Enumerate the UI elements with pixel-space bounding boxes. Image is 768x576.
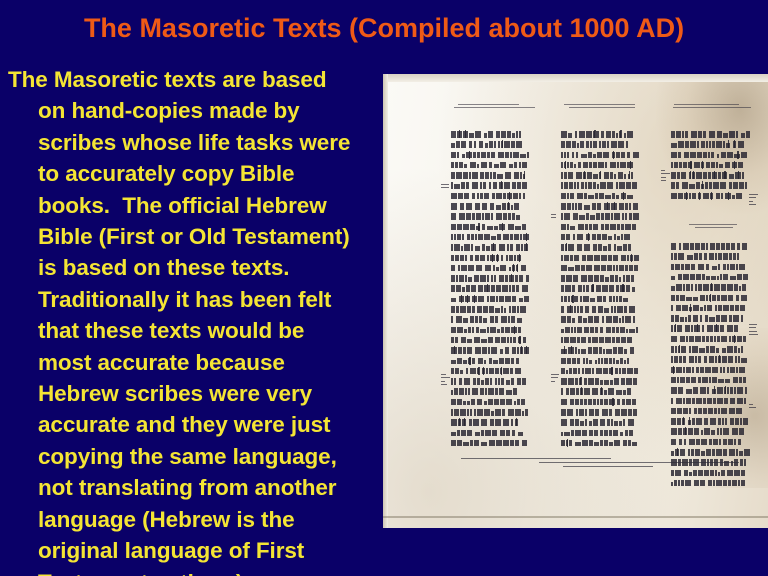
body-line: Testament authors). — [8, 567, 380, 576]
manuscript-text-line — [671, 335, 757, 345]
manuscript-text-line — [451, 243, 537, 253]
manuscript-text-line — [561, 295, 647, 305]
marginal-masorah-note — [749, 194, 758, 208]
manuscript-text-line — [451, 367, 537, 377]
masorah-header-right — [671, 104, 757, 118]
manuscript-text-line — [451, 408, 537, 418]
body-line: Hebrew scribes were very — [8, 378, 380, 409]
manuscript-text-line — [671, 263, 757, 273]
masorah-header-left — [451, 104, 537, 118]
marginal-masorah-note — [749, 324, 758, 338]
manuscript-text-line — [671, 386, 757, 396]
manuscript-text-line — [561, 346, 647, 356]
body-line: scribes whose life tasks were — [8, 127, 380, 158]
manuscript-text-line — [561, 305, 647, 315]
manuscript-text-line — [561, 418, 647, 428]
manuscript-text-line — [451, 418, 537, 428]
manuscript-text-line — [561, 151, 647, 161]
manuscript-text-line — [561, 233, 647, 243]
body-line: language (Hebrew is the — [8, 504, 380, 535]
body-line: is based on these texts. — [8, 252, 380, 283]
manuscript-text-line — [451, 387, 537, 397]
page-edge — [383, 74, 388, 528]
manuscript-text-line — [451, 315, 537, 325]
marginal-masorah-note — [551, 374, 560, 384]
page-edge — [383, 516, 768, 518]
manuscript-text-line — [561, 192, 647, 202]
body-line: to accurately copy Bible — [8, 158, 380, 189]
masorah-note-line — [461, 458, 611, 459]
masorah-note-line — [563, 466, 653, 467]
manuscript-text-line — [451, 254, 537, 264]
manuscript-column-left — [451, 130, 537, 449]
manuscript-text-line — [561, 284, 647, 294]
page-edge — [383, 74, 768, 82]
manuscript-text-line — [451, 377, 537, 387]
manuscript-text-line — [671, 130, 757, 140]
manuscript-text-line — [451, 212, 537, 222]
manuscript-text-line — [451, 274, 537, 284]
manuscript-text-line — [451, 439, 537, 449]
masorah-footer — [443, 458, 743, 469]
slide-canvas: The Masoretic Texts (Compiled about 1000… — [0, 0, 768, 576]
manuscript-text-line — [451, 192, 537, 202]
manuscript-text-line — [561, 315, 647, 325]
manuscript-text-line — [561, 212, 647, 222]
marginal-masorah-note — [441, 374, 450, 388]
slide-title: The Masoretic Texts (Compiled about 1000… — [0, 12, 768, 44]
manuscript-text-line — [561, 130, 647, 140]
manuscript-text-line — [451, 326, 537, 336]
manuscript-text-line — [671, 448, 757, 458]
manuscript-text-line — [561, 161, 647, 171]
manuscript-text-line — [671, 273, 757, 283]
manuscript-paragraph-gap — [671, 202, 757, 224]
manuscript-text-line — [451, 171, 537, 181]
manuscript-text-line — [671, 140, 757, 150]
manuscript-text-line — [561, 223, 647, 233]
marginal-masorah-note — [661, 170, 670, 184]
masorah-note-line — [539, 462, 739, 463]
manuscript-text-line — [451, 305, 537, 315]
masorah-note-line — [564, 104, 635, 105]
body-line: copying the same language, — [8, 441, 380, 472]
manuscript-text-line — [671, 294, 757, 304]
manuscript-column-right — [671, 130, 757, 489]
manuscript-text-line — [561, 429, 647, 439]
body-line: that these texts would be — [8, 315, 380, 346]
manuscript-text-line — [561, 357, 647, 367]
manuscript-text-line — [561, 274, 647, 284]
manuscript-column-middle — [561, 130, 647, 449]
body-line: books. The official Hebrew — [8, 190, 380, 221]
manuscript-text-line — [451, 202, 537, 212]
manuscript-text-line — [561, 243, 647, 253]
manuscript-text-line — [671, 479, 757, 489]
marginal-masorah-note — [441, 184, 450, 191]
manuscript-text-line — [671, 151, 757, 161]
marginal-masorah-note — [749, 404, 758, 411]
masorah-header-middle — [561, 104, 647, 118]
slide-body-text: The Masoretic texts are based on hand-co… — [8, 64, 380, 576]
masorah-note-line — [673, 107, 751, 108]
manuscript-text-line — [561, 377, 647, 387]
masorah-note-line — [458, 104, 519, 105]
manuscript-text-line — [671, 417, 757, 427]
manuscript-text-line — [671, 242, 757, 252]
manuscript-text-line — [561, 202, 647, 212]
manuscript-text-line — [671, 407, 757, 417]
manuscript-text-line — [671, 314, 757, 324]
manuscript-text-line — [561, 254, 647, 264]
manuscript-text-line — [561, 140, 647, 150]
manuscript-text-line — [451, 181, 537, 191]
manuscript-text-line — [671, 304, 757, 314]
manuscript-text-line — [561, 336, 647, 346]
manuscript-text-line — [671, 376, 757, 386]
manuscript-text-line — [451, 346, 537, 356]
manuscript-text-line — [671, 397, 757, 407]
manuscript-text-line — [561, 408, 647, 418]
manuscript-text-line — [451, 336, 537, 346]
manuscript-text-line — [451, 357, 537, 367]
manuscript-text-line — [451, 295, 537, 305]
manuscript-text-line — [451, 151, 537, 161]
manuscript-text-line — [671, 355, 757, 365]
manuscript-text-line — [451, 161, 537, 171]
body-line: not translating from another — [8, 472, 380, 503]
masorah-note-line — [674, 104, 739, 105]
manuscript-text-line — [671, 324, 757, 334]
manuscript-text-line — [671, 366, 757, 376]
masorah-note-line — [569, 107, 635, 108]
manuscript-text-line — [561, 181, 647, 191]
manuscript-text-line — [561, 367, 647, 377]
manuscript-text-line — [451, 130, 537, 140]
manuscript-text-line — [561, 398, 647, 408]
body-line: most accurate because — [8, 347, 380, 378]
masorah-inline-note — [689, 224, 737, 225]
manuscript-text-line — [671, 345, 757, 355]
manuscript-text-line — [451, 284, 537, 294]
manuscript-text-line — [561, 326, 647, 336]
body-line: The Masoretic texts are based — [8, 64, 380, 95]
manuscript-text-line — [451, 223, 537, 233]
manuscript-text-line — [671, 181, 757, 191]
manuscript-text-line — [451, 233, 537, 243]
manuscript-photo — [383, 74, 768, 528]
manuscript-text-line — [451, 398, 537, 408]
manuscript-text-line — [671, 171, 757, 181]
manuscript-text-line — [671, 469, 757, 479]
manuscript-paragraph-gap — [671, 230, 757, 242]
body-line: on hand-copies made by — [8, 95, 380, 126]
manuscript-text-line — [671, 438, 757, 448]
masorah-note-line — [454, 107, 535, 108]
manuscript-text-line — [671, 252, 757, 262]
manuscript-text-line — [451, 264, 537, 274]
manuscript-text-line — [451, 429, 537, 439]
manuscript-text-line — [671, 283, 757, 293]
body-line: original language of First — [8, 535, 380, 566]
manuscript-text-line — [451, 140, 537, 150]
manuscript-text-line — [561, 264, 647, 274]
manuscript-text-line — [671, 192, 757, 202]
manuscript-text-line — [671, 161, 757, 171]
masorah-inline-note — [695, 227, 733, 228]
body-line: accurate and they were just — [8, 409, 380, 440]
manuscript-text-line — [561, 171, 647, 181]
manuscript-text-line — [671, 427, 757, 437]
body-line: Traditionally it has been felt — [8, 284, 380, 315]
manuscript-text-line — [561, 387, 647, 397]
marginal-masorah-note — [551, 214, 560, 221]
body-line: Bible (First or Old Testament) — [8, 221, 380, 252]
manuscript-text-line — [561, 439, 647, 449]
